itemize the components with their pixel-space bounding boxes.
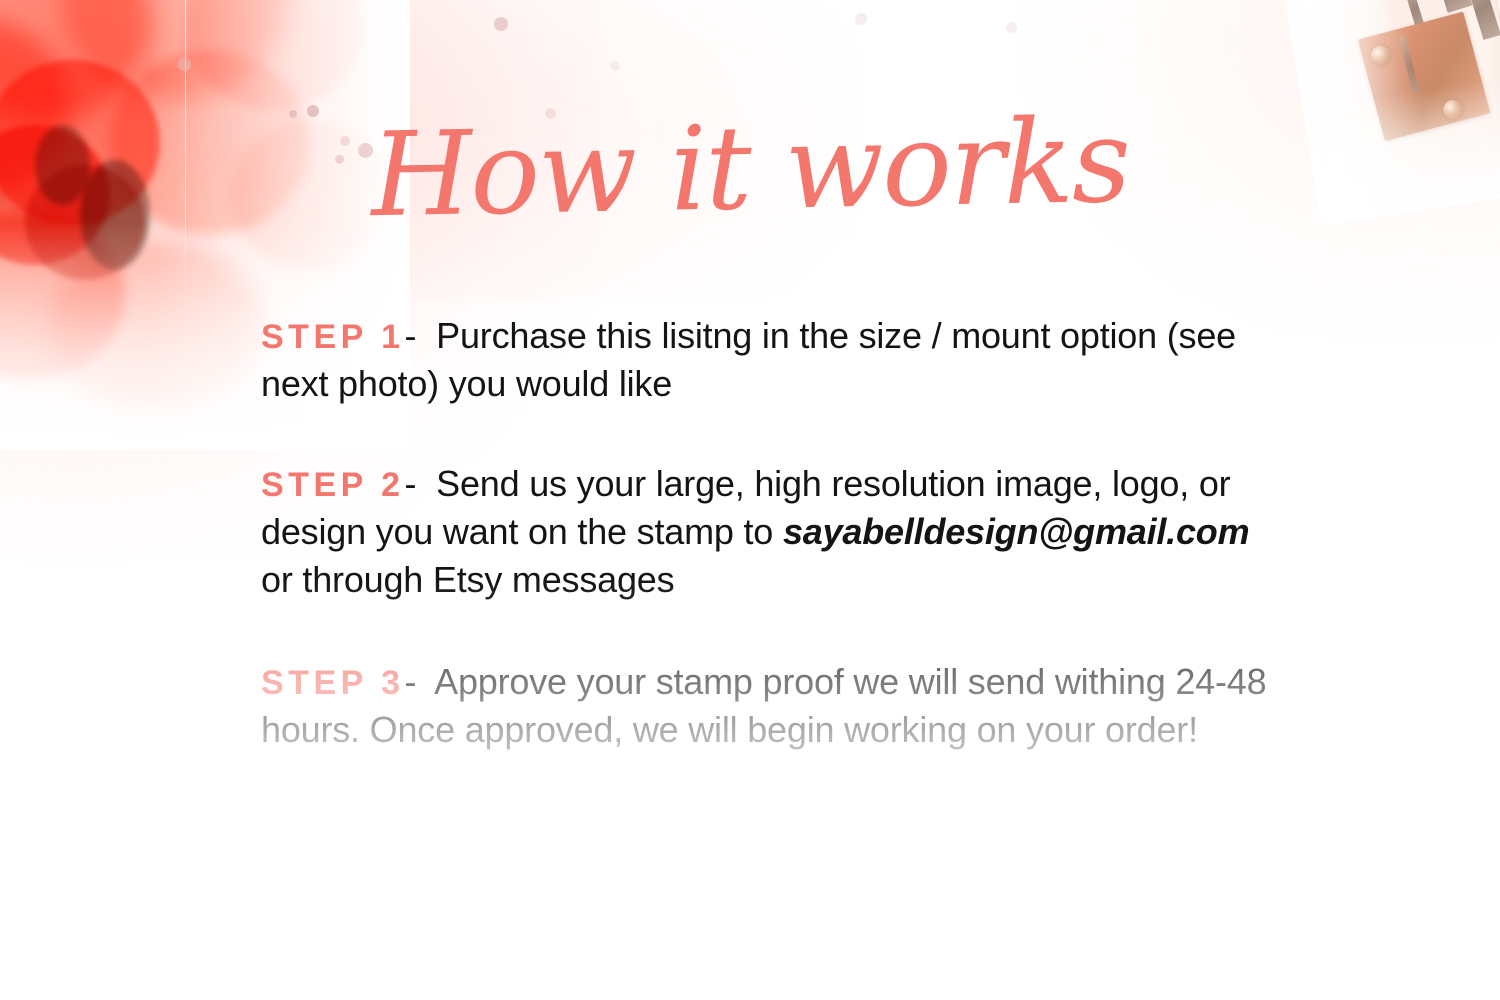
step-item-2: STEP 2- Send us your large, high resolut… [261,460,1271,604]
step-3-label: STEP 3 [261,664,405,702]
step-1-dash: - [405,315,417,356]
contact-email[interactable]: sayabelldesign@gmail.com [783,511,1249,552]
step-3-text: STEP 3- Approve your stamp proof we will… [261,658,1271,754]
step-1-text: STEP 1- Purchase this lisitng in the siz… [261,312,1271,408]
confetti-dot [610,61,620,71]
step-2-text: STEP 2- Send us your large, high resolut… [261,460,1271,604]
confetti-dot [494,17,508,31]
gold-confetti-dot [120,911,130,924]
confetti-dot [1006,22,1017,33]
step-3-dash: - [405,661,417,702]
step-item-1: STEP 1- Purchase this lisitng in the siz… [261,312,1271,408]
gold-confetti-dot [79,943,90,954]
step-1-label: STEP 1 [261,318,405,356]
step-2-dash: - [405,463,417,504]
how-it-works-graphic: How it works STEP 1- Purchase this lisit… [0,0,1500,1000]
step-2-body-after: or through Etsy messages [261,559,674,600]
confetti-dot [855,13,867,25]
step-2-label: STEP 2 [261,466,405,504]
step-item-3: STEP 3- Approve your stamp proof we will… [261,658,1271,754]
steps-list: STEP 1- Purchase this lisitng in the siz… [261,312,1271,754]
